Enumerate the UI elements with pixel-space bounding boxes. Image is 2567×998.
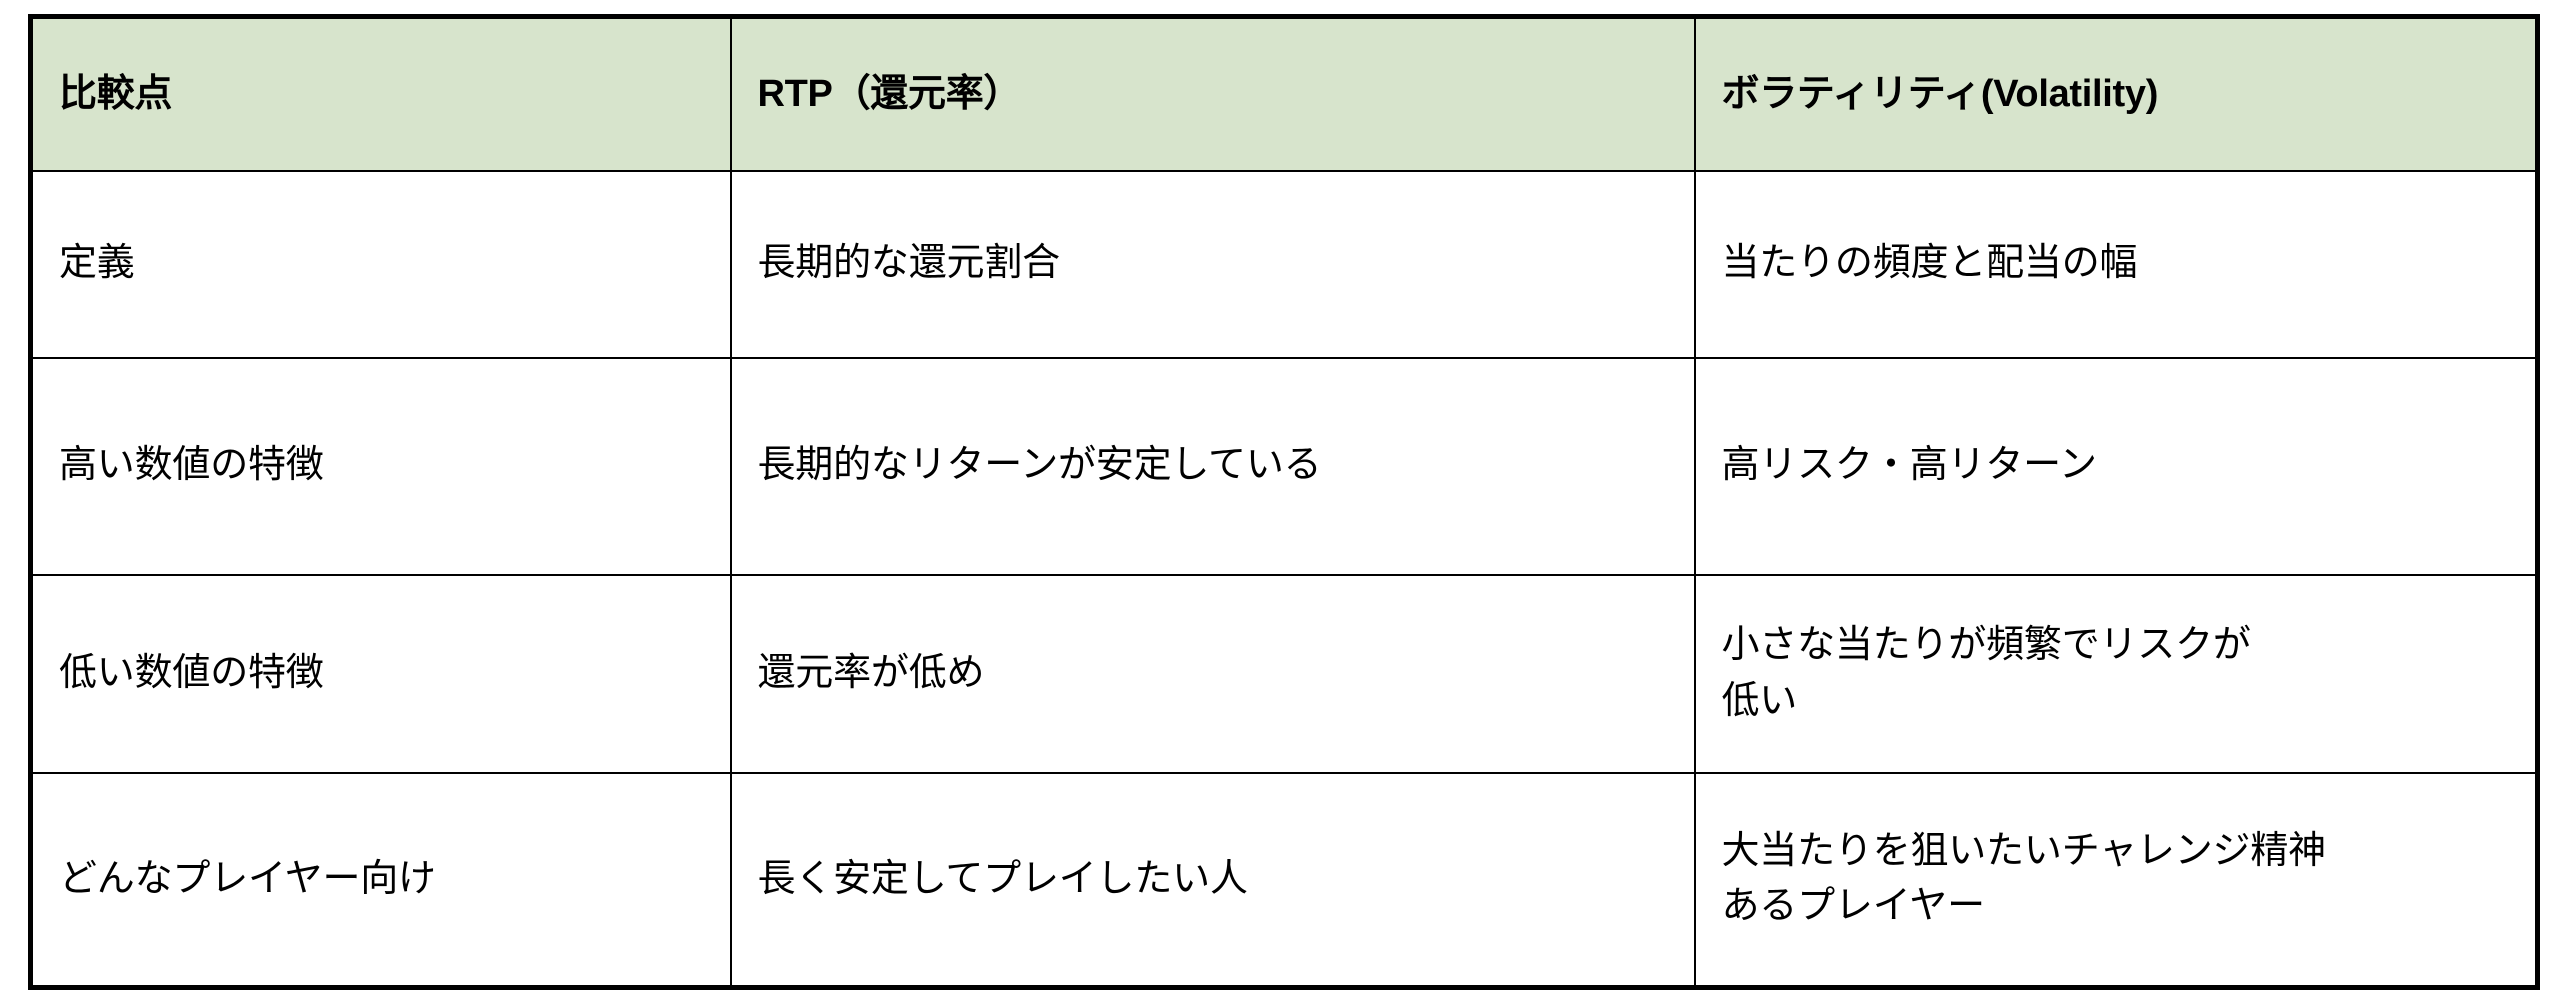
cell-volatility: 小さな当たりが頻繁でリスクが 低い [1695, 575, 2538, 773]
cell-volatility: 大当たりを狙いたいチャレンジ精神 あるプレイヤー [1695, 773, 2538, 988]
table-header: 比較点 RTP（還元率） ボラティリティ(Volatility) [31, 17, 2538, 171]
cell-volatility: 当たりの頻度と配当の幅 [1695, 171, 2538, 358]
table-header-row: 比較点 RTP（還元率） ボラティリティ(Volatility) [31, 17, 2538, 171]
cell-criterion: 低い数値の特徴 [31, 575, 731, 773]
comparison-table-container: 比較点 RTP（還元率） ボラティリティ(Volatility) 定義 長期的な… [28, 14, 2535, 990]
cell-volatility-line: 当たりの頻度と配当の幅 [1722, 236, 2510, 291]
cell-rtp: 還元率が低め [731, 575, 1695, 773]
table-body: 定義 長期的な還元割合 当たりの頻度と配当の幅 高い数値の特徴 長期的なリターン… [31, 171, 2538, 988]
page-root: 比較点 RTP（還元率） ボラティリティ(Volatility) 定義 長期的な… [0, 0, 2567, 998]
cell-volatility-text: 大当たりを狙いたいチャレンジ精神 あるプレイヤー [1722, 824, 2510, 934]
cell-criterion: 高い数値の特徴 [31, 358, 731, 575]
column-header-criterion: 比較点 [31, 17, 731, 171]
cell-volatility: 高リスク・高リターン [1695, 358, 2538, 575]
cell-criterion: どんなプレイヤー向け [31, 773, 731, 988]
cell-rtp: 長期的なリターンが安定している [731, 358, 1695, 575]
cell-volatility-text: 高リスク・高リターン [1722, 438, 2510, 493]
cell-volatility-line: 大当たりを狙いたいチャレンジ精神 [1722, 824, 2510, 879]
cell-volatility-text: 当たりの頻度と配当の幅 [1722, 236, 2510, 291]
cell-rtp: 長期的な還元割合 [731, 171, 1695, 358]
cell-rtp: 長く安定してプレイしたい人 [731, 773, 1695, 988]
cell-volatility-line: 高リスク・高リターン [1722, 438, 2510, 493]
comparison-table: 比較点 RTP（還元率） ボラティリティ(Volatility) 定義 長期的な… [28, 14, 2540, 990]
column-header-volatility: ボラティリティ(Volatility) [1695, 17, 2538, 171]
cell-volatility-line: 小さな当たりが頻繁でリスクが [1722, 618, 2510, 673]
cell-volatility-text: 小さな当たりが頻繁でリスクが 低い [1722, 618, 2510, 728]
table-row: どんなプレイヤー向け 長く安定してプレイしたい人 大当たりを狙いたいチャレンジ精… [31, 773, 2538, 988]
table-row: 低い数値の特徴 還元率が低め 小さな当たりが頻繁でリスクが 低い [31, 575, 2538, 773]
cell-volatility-line: あるプレイヤー [1722, 879, 2510, 934]
table-row: 高い数値の特徴 長期的なリターンが安定している 高リスク・高リターン [31, 358, 2538, 575]
column-header-rtp: RTP（還元率） [731, 17, 1695, 171]
cell-volatility-line: 低い [1722, 674, 2510, 729]
cell-criterion: 定義 [31, 171, 731, 358]
table-row: 定義 長期的な還元割合 当たりの頻度と配当の幅 [31, 171, 2538, 358]
